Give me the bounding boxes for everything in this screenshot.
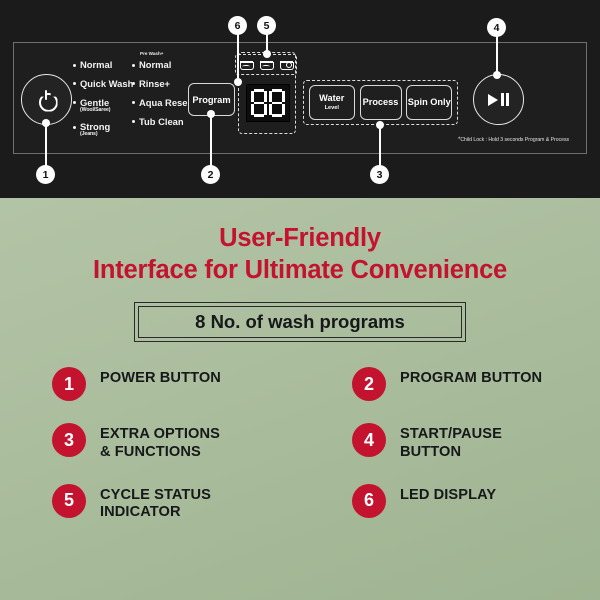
bullet-icon bbox=[73, 126, 76, 129]
program-count-box: 8 No. of wash programs bbox=[138, 306, 462, 338]
legend-badge-4: 4 bbox=[352, 423, 386, 457]
program-label: Rinse+ bbox=[139, 79, 170, 88]
legend-label-2: PROGRAM BUTTON bbox=[400, 370, 542, 388]
legend-label-6: LED DISPLAY bbox=[400, 487, 496, 505]
program-item: Quick Wash bbox=[73, 79, 133, 88]
legend-badge-2: 2 bbox=[352, 367, 386, 401]
bullet-icon bbox=[73, 101, 76, 104]
callout-6-line bbox=[237, 34, 239, 82]
legend-item-2: 2 PROGRAM BUTTON bbox=[300, 370, 600, 401]
headline-line-2: Interface for Ultimate Convenience bbox=[0, 254, 600, 286]
program-sublabel: (Wool/Saree) bbox=[80, 108, 110, 113]
callout-5-line bbox=[266, 34, 268, 54]
legend-row: 1 POWER BUTTON 2 PROGRAM BUTTON bbox=[0, 370, 600, 401]
led-digit-2 bbox=[269, 89, 285, 117]
pause-icon bbox=[501, 93, 509, 106]
callout-5-number: 5 bbox=[257, 16, 276, 35]
spin-only-label: Spin Only bbox=[408, 98, 451, 108]
pre-wash-header: Pre Wash+ bbox=[140, 51, 163, 56]
bullet-icon bbox=[132, 82, 135, 85]
bullet-icon bbox=[132, 101, 135, 104]
program-label: Tub Clean bbox=[139, 117, 184, 126]
legend-row: 5 CYCLE STATUS INDICATOR 6 LED DISPLAY bbox=[0, 487, 600, 523]
process-button[interactable]: Process bbox=[360, 85, 402, 120]
program-item: Normal bbox=[73, 60, 133, 69]
extra-options-group: Water Level Process Spin Only bbox=[303, 80, 458, 125]
bullet-icon bbox=[132, 64, 135, 67]
legend-item-1: 1 POWER BUTTON bbox=[0, 370, 300, 401]
legend-list: 1 POWER BUTTON 2 PROGRAM BUTTON 3 EXTRA … bbox=[0, 370, 600, 547]
callout-2-line bbox=[210, 114, 212, 166]
program-item: Strong(Jeans) bbox=[73, 122, 133, 137]
spin-only-button[interactable]: Spin Only bbox=[406, 85, 452, 120]
play-icon bbox=[488, 94, 498, 106]
bullet-icon bbox=[73, 64, 76, 67]
program-label: Normal bbox=[139, 60, 171, 69]
program-list-column-1: Normal Quick Wash Gentle(Wool/Saree) Str… bbox=[73, 60, 133, 147]
washing-machine-control-panel: Normal Quick Wash Gentle(Wool/Saree) Str… bbox=[0, 0, 600, 198]
callout-1-line bbox=[45, 123, 47, 166]
program-label: Normal bbox=[80, 60, 112, 69]
child-lock-text: Child Lock : Hold 3 seconds Program & Pr… bbox=[460, 137, 569, 143]
process-label: Process bbox=[363, 98, 399, 108]
program-item: Normal bbox=[132, 60, 202, 69]
bullet-icon bbox=[73, 82, 76, 85]
start-pause-button[interactable] bbox=[473, 74, 524, 125]
legend-badge-5: 5 bbox=[52, 484, 86, 518]
water-level-sublabel: Level bbox=[325, 105, 339, 111]
program-label: Quick Wash bbox=[80, 79, 133, 88]
callout-3-number: 3 bbox=[370, 165, 389, 184]
legend-label-1: POWER BUTTON bbox=[100, 370, 221, 388]
legend-label-3: EXTRA OPTIONS & FUNCTIONS bbox=[100, 426, 220, 462]
promo-section: User-Friendly Interface for Ultimate Con… bbox=[0, 198, 600, 600]
legend-item-5: 5 CYCLE STATUS INDICATOR bbox=[0, 487, 300, 523]
bullet-icon bbox=[132, 120, 135, 123]
power-icon bbox=[37, 90, 57, 110]
water-level-button[interactable]: Water Level bbox=[309, 85, 355, 120]
power-button[interactable] bbox=[21, 74, 72, 125]
callout-4-number: 4 bbox=[487, 18, 506, 37]
callout-1-number: 1 bbox=[36, 165, 55, 184]
legend-item-3: 3 EXTRA OPTIONS & FUNCTIONS bbox=[0, 426, 300, 462]
legend-badge-3: 3 bbox=[52, 423, 86, 457]
legend-row: 3 EXTRA OPTIONS & FUNCTIONS 4 START/PAUS… bbox=[0, 426, 600, 462]
legend-item-4: 4 START/PAUSE BUTTON bbox=[300, 426, 600, 462]
child-lock-note: *Child Lock : Hold 3 seconds Program & P… bbox=[458, 137, 569, 143]
callout-2-number: 2 bbox=[201, 165, 220, 184]
infographic-root: Normal Quick Wash Gentle(Wool/Saree) Str… bbox=[0, 0, 600, 600]
led-digit-1 bbox=[251, 89, 267, 117]
water-level-label: Water bbox=[319, 94, 344, 104]
legend-item-6: 6 LED DISPLAY bbox=[300, 487, 600, 523]
legend-badge-1: 1 bbox=[52, 367, 86, 401]
callout-4-line bbox=[496, 36, 498, 74]
callout-3-line bbox=[379, 125, 381, 166]
callout-6-number: 6 bbox=[228, 16, 247, 35]
program-item: Tub Clean bbox=[132, 117, 202, 126]
led-display bbox=[246, 84, 290, 122]
program-sublabel: (Jeans) bbox=[80, 132, 110, 137]
program-label: Strong(Jeans) bbox=[80, 122, 110, 137]
promo-headline: User-Friendly Interface for Ultimate Con… bbox=[0, 222, 600, 286]
headline-line-1: User-Friendly bbox=[0, 222, 600, 254]
program-item: Gentle(Wool/Saree) bbox=[73, 98, 133, 113]
legend-badge-6: 6 bbox=[352, 484, 386, 518]
legend-label-4: START/PAUSE BUTTON bbox=[400, 426, 502, 462]
legend-label-5: CYCLE STATUS INDICATOR bbox=[100, 487, 211, 523]
program-label: Gentle(Wool/Saree) bbox=[80, 98, 110, 113]
